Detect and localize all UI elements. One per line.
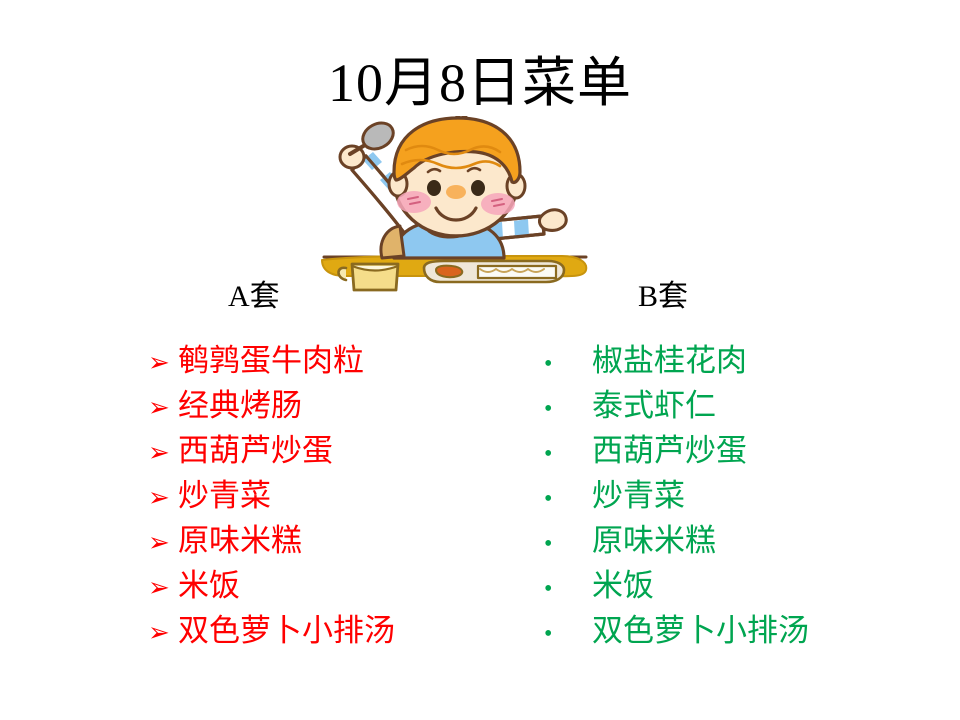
list-item: • 泰式虾仁 (540, 383, 900, 428)
dish-name: 经典烤肠 (178, 383, 302, 428)
list-item: ➢ 原味米糕 (148, 518, 478, 563)
list-item: ➢ 鹌鹑蛋牛肉粒 (148, 338, 478, 383)
list-item: • 米饭 (540, 563, 900, 608)
dish-name: 西葫芦炒蛋 (592, 428, 747, 473)
dot-bullet-icon: • (540, 387, 592, 432)
dot-bullet-icon: • (540, 522, 592, 567)
dish-name: 原味米糕 (178, 518, 302, 563)
dish-name: 双色萝卜小排汤 (592, 608, 809, 653)
arrow-bullet-icon: ➢ (148, 610, 178, 655)
menu-list-a: ➢ 鹌鹑蛋牛肉粒 ➢ 经典烤肠 ➢ 西葫芦炒蛋 ➢ 炒青菜 ➢ 原味米糕 ➢ 米… (148, 338, 478, 653)
arrow-bullet-icon: ➢ (148, 520, 178, 565)
dot-bullet-icon: • (540, 477, 592, 522)
dish-name: 炒青菜 (592, 473, 685, 518)
dish-name: 炒青菜 (178, 473, 271, 518)
dish-name: 椒盐桂花肉 (592, 338, 747, 383)
list-item: ➢ 米饭 (148, 563, 478, 608)
arrow-bullet-icon: ➢ (148, 565, 178, 610)
dish-name: 米饭 (592, 563, 654, 608)
menu-list-b: • 椒盐桂花肉 • 泰式虾仁 • 西葫芦炒蛋 • 炒青菜 • 原味米糕 • 米饭… (540, 338, 900, 653)
dish-name: 米饭 (178, 563, 240, 608)
list-item: • 双色萝卜小排汤 (540, 608, 900, 653)
menu-slide: 10月8日菜单 (0, 0, 960, 720)
dish-name: 西葫芦炒蛋 (178, 428, 333, 473)
arrow-bullet-icon: ➢ (148, 475, 178, 520)
list-item: • 炒青菜 (540, 473, 900, 518)
dish-name: 原味米糕 (592, 518, 716, 563)
list-item: ➢ 西葫芦炒蛋 (148, 428, 478, 473)
list-item: • 原味米糕 (540, 518, 900, 563)
dot-bullet-icon: • (540, 342, 592, 387)
dish-name: 鹌鹑蛋牛肉粒 (178, 338, 364, 383)
arrow-bullet-icon: ➢ (148, 340, 178, 385)
list-item: • 椒盐桂花肉 (540, 338, 900, 383)
dot-bullet-icon: • (540, 432, 592, 477)
list-item: ➢ 经典烤肠 (148, 383, 478, 428)
dot-bullet-icon: • (540, 612, 592, 657)
column-header-a: A套 (228, 279, 280, 315)
column-header-b: B套 (638, 279, 688, 315)
page-title: 10月8日菜单 (0, 52, 960, 114)
arrow-bullet-icon: ➢ (148, 430, 178, 475)
dot-bullet-icon: • (540, 567, 592, 612)
list-item: • 西葫芦炒蛋 (540, 428, 900, 473)
arrow-bullet-icon: ➢ (148, 385, 178, 430)
list-item: ➢ 双色萝卜小排汤 (148, 608, 478, 653)
child-eating-clipart (316, 116, 594, 292)
list-item: ➢ 炒青菜 (148, 473, 478, 518)
dish-name: 泰式虾仁 (592, 383, 716, 428)
dish-name: 双色萝卜小排汤 (178, 608, 395, 653)
